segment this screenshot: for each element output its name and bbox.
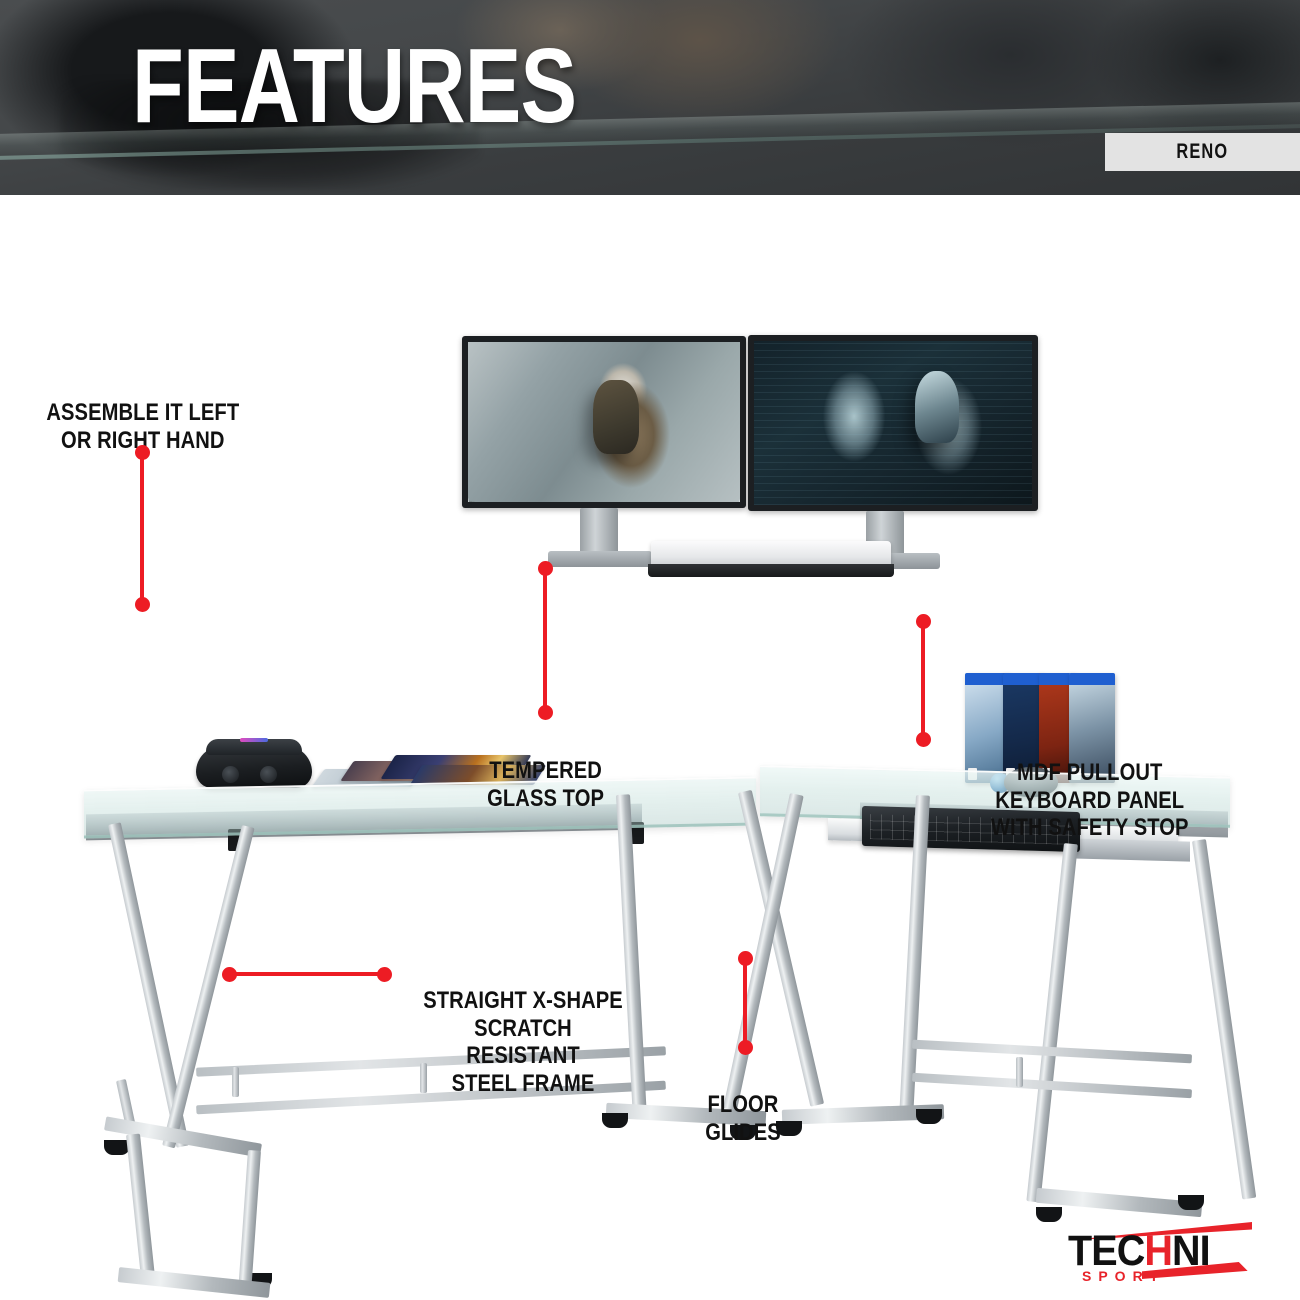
model-badge-label: RENO [1176,140,1228,164]
logo-subtitle: SPORT [1082,1269,1165,1283]
callout-glides-text: FLOOR GLIDES [660,1063,826,1146]
controller-stick [222,766,239,783]
callout-frame-text: STRAIGHT X-SHAPE SCRATCH RESISTANT STEEL… [398,959,648,1098]
controller-stick [260,766,277,783]
callout-glass-dot-bottom [538,705,553,720]
monitor-left-stand-base [548,551,652,567]
callout-assemble-leader [140,452,144,604]
callout-assemble-dot-bottom [135,597,150,612]
stretcher-brace [1016,1057,1023,1087]
callout-keyboard-dot-bottom [916,732,931,747]
infographic-page: FEATURES RENO [0,0,1300,1300]
header-banner: FEATURES RENO [0,0,1300,195]
floor-glide [1036,1207,1062,1222]
monitor-right [748,335,1038,511]
laptop-base [648,564,894,577]
callout-glass-text: TEMPERED GLASS TOP [420,729,672,812]
callout-glides-leader [743,958,747,1045]
callout-frame-leader [229,972,382,976]
logo-word-part2: NI [1172,1227,1210,1275]
leg-frame-bar [239,1150,261,1283]
monitor-right-screen [754,341,1032,505]
floor-glide [916,1109,942,1124]
leg-frame-bar [162,825,254,1148]
monitor-left-stand-neck [580,508,618,553]
logo-wordmark: TECHNI [1068,1230,1222,1273]
techni-sport-logo: TECHNI SPORT [1046,1222,1252,1284]
monitor-left [462,336,746,508]
callout-glass-leader [543,568,547,711]
callout-frame-dot-right [377,967,392,982]
stretcher-brace [232,1067,239,1097]
game-controller [196,746,312,788]
model-badge: RENO [1105,133,1300,171]
product-photo-stage: ASSEMBLE IT LEFT OR RIGHT HAND TEMPERED … [0,195,1300,1300]
page-title: FEATURES [132,34,576,138]
callout-glides-dot-bottom [738,1040,753,1055]
floor-glide [602,1113,628,1128]
callout-assemble-text: ASSEMBLE IT LEFT OR RIGHT HAND [10,371,276,454]
controller-lightbar [240,738,268,742]
leg-frame-bar [126,1134,156,1285]
leg-frame-bar [1192,839,1256,1199]
callout-keyboard-text: MDF PULLOUT KEYBOARD PANEL WITH SAFETY S… [940,731,1240,842]
callout-keyboard-leader [921,621,925,737]
floor-glide [1178,1195,1204,1210]
leg-frame-bar [1026,843,1078,1202]
monitor-left-screen [468,342,740,502]
